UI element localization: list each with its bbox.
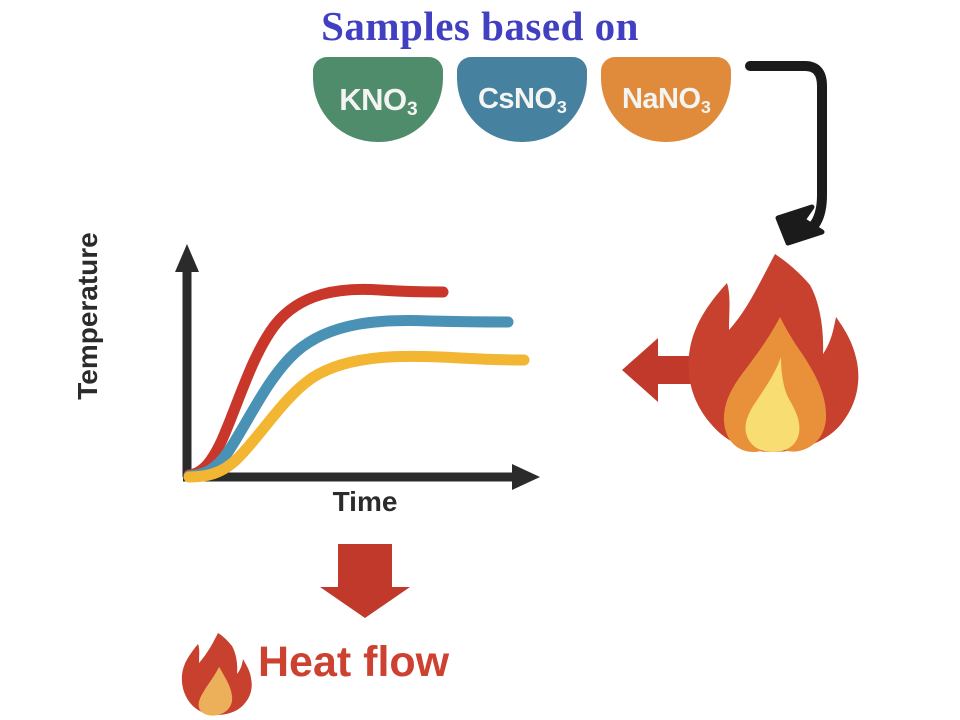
small-flame-icon bbox=[182, 633, 252, 716]
page-title: Samples based on bbox=[0, 2, 960, 50]
curve-series-2 bbox=[189, 356, 524, 477]
curved-feed-arrow bbox=[750, 66, 822, 243]
heat-flow-label: Heat flow bbox=[258, 638, 449, 687]
sample-chip-nano3[interactable]: NaNO3 bbox=[601, 57, 731, 142]
sample-chip-kno3-label: KNO3 bbox=[339, 84, 417, 115]
left-arrow-heat bbox=[622, 338, 700, 402]
down-arrow-output bbox=[320, 544, 410, 618]
chart-y-axis-label: Temperature bbox=[72, 201, 104, 431]
graphical-abstract-canvas: Samples based on KNO3 CsNO3 NaNO3 bbox=[0, 0, 960, 720]
sample-chip-csno3[interactable]: CsNO3 bbox=[457, 57, 587, 142]
sample-chip-kno3[interactable]: KNO3 bbox=[313, 57, 443, 142]
flame-icon bbox=[689, 254, 859, 452]
sample-chip-csno3-label: CsNO3 bbox=[478, 85, 566, 114]
sample-chip-nano3-label: NaNO3 bbox=[622, 85, 710, 114]
chart-curves bbox=[189, 289, 524, 477]
chart-x-axis-label: Time bbox=[270, 486, 460, 518]
